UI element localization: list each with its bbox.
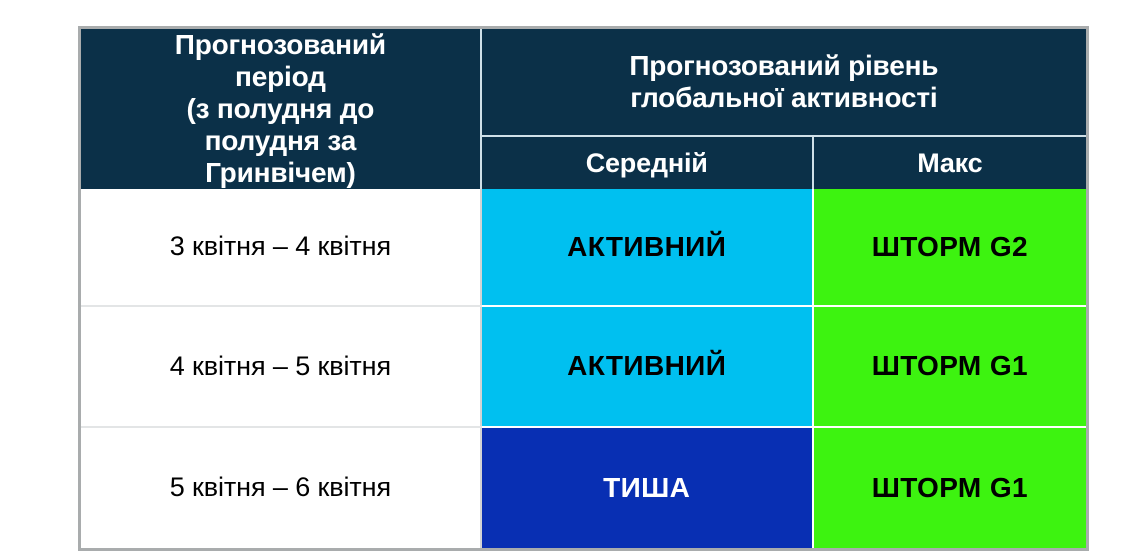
cell-period: 5 квітня – 6 квітня [80, 427, 481, 550]
header-global-line-2: глобальної активності [482, 82, 1086, 114]
header-period-line-2: період [81, 61, 480, 93]
header-max: Макс [813, 136, 1088, 188]
cell-period: 4 квітня – 5 квітня [80, 306, 481, 427]
cell-max-level: ШТОРМ G2 [813, 189, 1088, 306]
header-period-line-4: полудня за [81, 125, 480, 157]
header-row-primary: Прогнозований період (з полудня до полуд… [80, 28, 1088, 137]
table-row: 5 квітня – 6 квітня ТИША ШТОРМ G1 [80, 427, 1088, 550]
table-header: Прогнозований період (з полудня до полуд… [80, 28, 1088, 189]
table-row: 3 квітня – 4 квітня АКТИВНИЙ ШТОРМ G2 [80, 189, 1088, 306]
cell-mean-level: АКТИВНИЙ [481, 306, 813, 427]
header-global-line-1: Прогнозований рівень [482, 50, 1086, 82]
header-period-line-5: Гринвічем) [81, 157, 480, 189]
geomagnetic-forecast-table: Прогнозований період (з полудня до полуд… [78, 26, 1089, 551]
cell-max-level: ШТОРМ G1 [813, 427, 1088, 550]
header-forecast-period: Прогнозований період (з полудня до полуд… [80, 28, 481, 189]
cell-mean-level: АКТИВНИЙ [481, 189, 813, 306]
cell-max-level: ШТОРМ G1 [813, 306, 1088, 427]
header-mean: Середній [481, 136, 813, 188]
header-period-line-3: (з полудня до [81, 93, 480, 125]
cell-period: 3 квітня – 4 квітня [80, 189, 481, 306]
table-body: 3 квітня – 4 квітня АКТИВНИЙ ШТОРМ G2 4 … [80, 189, 1088, 550]
table-row: 4 квітня – 5 квітня АКТИВНИЙ ШТОРМ G1 [80, 306, 1088, 427]
page-canvas: Прогнозований період (з полудня до полуд… [0, 0, 1141, 511]
header-period-line-1: Прогнозований [81, 29, 480, 61]
cell-mean-level: ТИША [481, 427, 813, 550]
header-global-activity-level: Прогнозований рівень глобальної активнос… [481, 28, 1088, 137]
